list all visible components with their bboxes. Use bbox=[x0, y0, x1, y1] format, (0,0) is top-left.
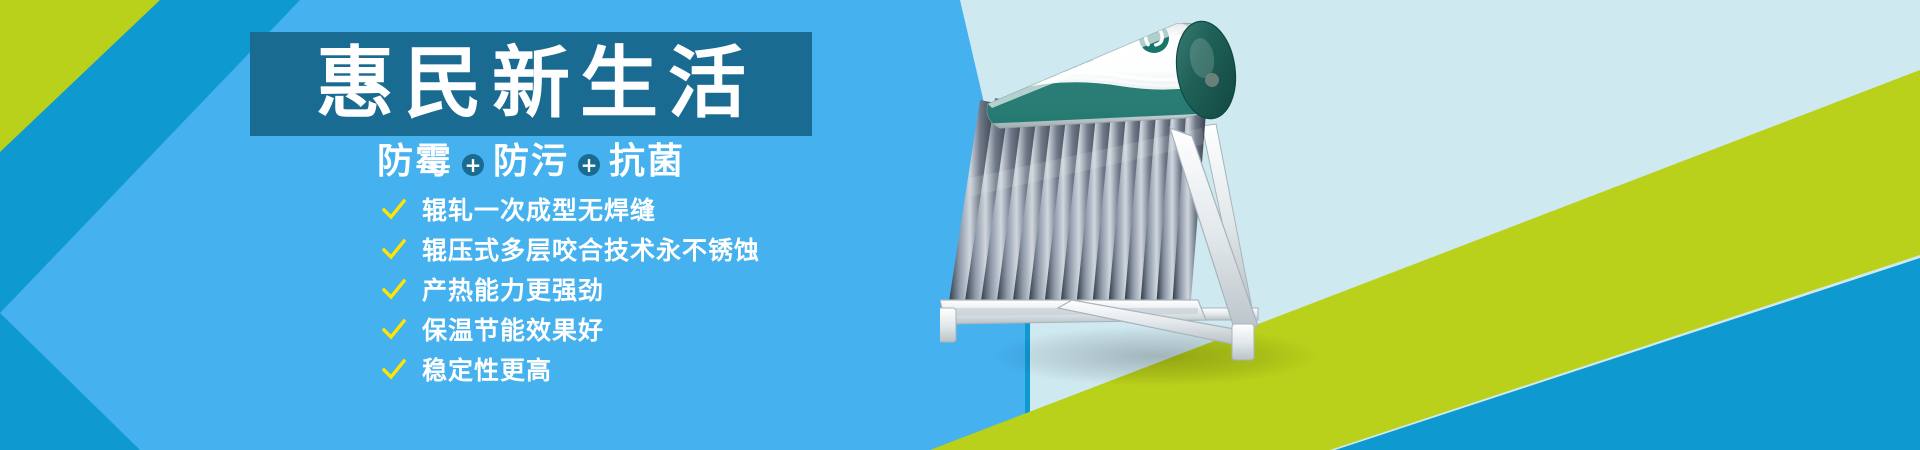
list-item: 产热能力更强劲 bbox=[382, 274, 760, 306]
product-shadow bbox=[990, 326, 1320, 386]
title-banner: 惠民新生活 bbox=[250, 32, 812, 136]
check-icon bbox=[382, 238, 406, 262]
list-item: 稳定性更高 bbox=[382, 354, 760, 386]
water-tank: 皇明太阳能 中国太阳谷 bbox=[980, 8, 1242, 128]
subtitle-word-2: 防污 bbox=[493, 142, 569, 182]
plus-icon-1: + bbox=[462, 154, 484, 176]
feature-list: 辊轧一次成型无焊缝 辊压式多层咬合技术永不锈蚀 产热能力更强劲 保温节能效果好 bbox=[382, 194, 760, 386]
feature-label: 保温节能效果好 bbox=[422, 318, 604, 343]
check-icon bbox=[382, 318, 406, 342]
frame-foot-right bbox=[1232, 324, 1254, 360]
list-item: 辊轧一次成型无焊缝 bbox=[382, 194, 760, 226]
page-title: 惠民新生活 bbox=[306, 45, 756, 123]
subtitle-word-3: 抗菌 bbox=[609, 142, 685, 182]
list-item: 辊压式多层咬合技术永不锈蚀 bbox=[382, 234, 760, 266]
check-icon bbox=[382, 358, 406, 382]
check-icon bbox=[382, 278, 406, 302]
product-image-solar-water-heater: 皇明太阳能 中国太阳谷 bbox=[940, 8, 1500, 398]
feature-label: 产热能力更强劲 bbox=[422, 278, 604, 303]
plus-icon-2: + bbox=[578, 154, 600, 176]
subtitle-row: 防霉 + 防污 + 抗菌 bbox=[250, 142, 812, 182]
subtitle-word-1: 防霉 bbox=[377, 142, 453, 182]
frame-foot-left bbox=[940, 308, 956, 342]
tank-port-fitting bbox=[1205, 73, 1219, 87]
check-icon bbox=[382, 198, 406, 222]
promo-banner: 惠民新生活 防霉 + 防污 + 抗菌 辊轧一次成型无焊缝 辊压式多层咬合技术永不… bbox=[0, 0, 1920, 450]
list-item: 保温节能效果好 bbox=[382, 314, 760, 346]
feature-label: 辊压式多层咬合技术永不锈蚀 bbox=[422, 238, 760, 263]
feature-label: 稳定性更高 bbox=[422, 358, 552, 383]
feature-label: 辊轧一次成型无焊缝 bbox=[422, 198, 656, 223]
